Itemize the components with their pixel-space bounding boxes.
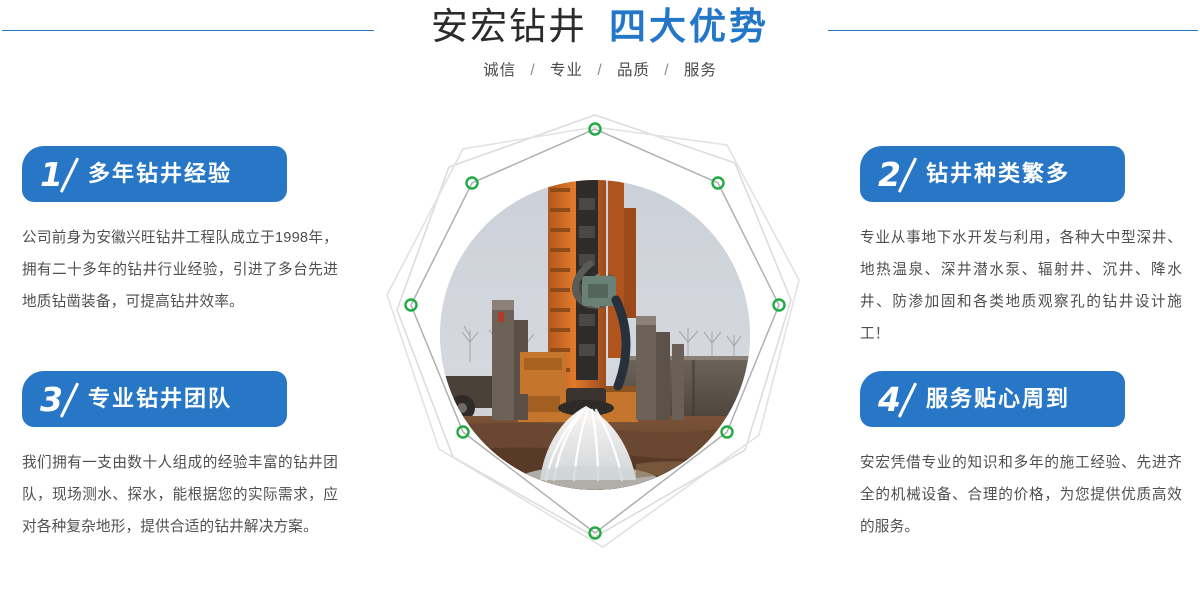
advantage-body-4: 安宏凭借专业的知识和多年的施工经验、先进齐全的机械设备、合理的价格，为您提供优质… bbox=[860, 447, 1182, 543]
advantages-banner: 安宏钻井四大优势 诚信 / 专业 / 品质 / 服务 1 多年钻井经验 公司前身… bbox=[0, 0, 1200, 600]
subtitle-separator: / bbox=[664, 62, 669, 79]
page-title-brand: 安宏钻井 bbox=[431, 8, 587, 45]
advantage-body-1: 公司前身为安徽兴旺钻井工程队成立于1998年，拥有二十多年的钻井行业经验，引进了… bbox=[22, 222, 338, 318]
advantage-title-4: 服务贴心周到 bbox=[926, 388, 1070, 410]
subtitle-item-0: 诚信 bbox=[483, 62, 516, 79]
advantage-body-3: 我们拥有一支由数十人组成的经验丰富的钻井团队，现场测水、探水，能根据您的实际需求… bbox=[22, 447, 338, 543]
advantage-title-3: 专业钻井团队 bbox=[88, 388, 232, 410]
subtitle-item-1: 专业 bbox=[550, 62, 583, 79]
advantage-title-2: 钻井种类繁多 bbox=[926, 163, 1070, 185]
page-header: 安宏钻井四大优势 诚信 / 专业 / 品质 / 服务 bbox=[0, 0, 1200, 110]
advantage-card-4: 4 服务贴心周到 安宏凭借专业的知识和多年的施工经验、先进齐全的机械设备、合理的… bbox=[860, 371, 1182, 543]
advantage-card-3: 3 专业钻井团队 我们拥有一支由数十人组成的经验丰富的钻井团队，现场测水、探水，… bbox=[22, 371, 344, 543]
advantage-badge-2[interactable]: 2 钻井种类繁多 bbox=[860, 146, 1125, 202]
subtitle-item-2: 品质 bbox=[617, 62, 650, 79]
advantage-card-1: 1 多年钻井经验 公司前身为安徽兴旺钻井工程队成立于1998年，拥有二十多年的钻… bbox=[22, 146, 344, 318]
advantage-title-1: 多年钻井经验 bbox=[88, 163, 232, 185]
advantage-card-2: 2 钻井种类繁多 专业从事地下水开发与利用，各种大中型深井、地热温泉、深井潜水泵… bbox=[860, 146, 1182, 350]
subtitle-separator: / bbox=[597, 62, 602, 79]
badge-number-icon: 4 bbox=[878, 383, 906, 416]
drilling-rig-illustration bbox=[440, 180, 750, 490]
center-graphic bbox=[375, 105, 815, 565]
advantage-body-2: 专业从事地下水开发与利用，各种大中型深井、地热温泉、深井潜水泵、辐射井、沉井、降… bbox=[860, 222, 1182, 350]
advantage-badge-1[interactable]: 1 多年钻井经验 bbox=[22, 146, 287, 202]
advantage-badge-4[interactable]: 4 服务贴心周到 bbox=[860, 371, 1125, 427]
badge-number-icon: 3 bbox=[40, 383, 68, 416]
page-title-highlight: 四大优势 bbox=[609, 8, 769, 45]
badge-number-icon: 1 bbox=[40, 158, 68, 191]
page-title: 安宏钻井四大优势 bbox=[0, 8, 1200, 45]
badge-number-icon: 2 bbox=[878, 158, 906, 191]
subtitle-item-3: 服务 bbox=[684, 62, 717, 79]
page-subtitle: 诚信 / 专业 / 品质 / 服务 bbox=[0, 63, 1200, 79]
subtitle-separator: / bbox=[530, 62, 535, 79]
drilling-rig-photo bbox=[440, 180, 750, 490]
advantage-badge-3[interactable]: 3 专业钻井团队 bbox=[22, 371, 287, 427]
